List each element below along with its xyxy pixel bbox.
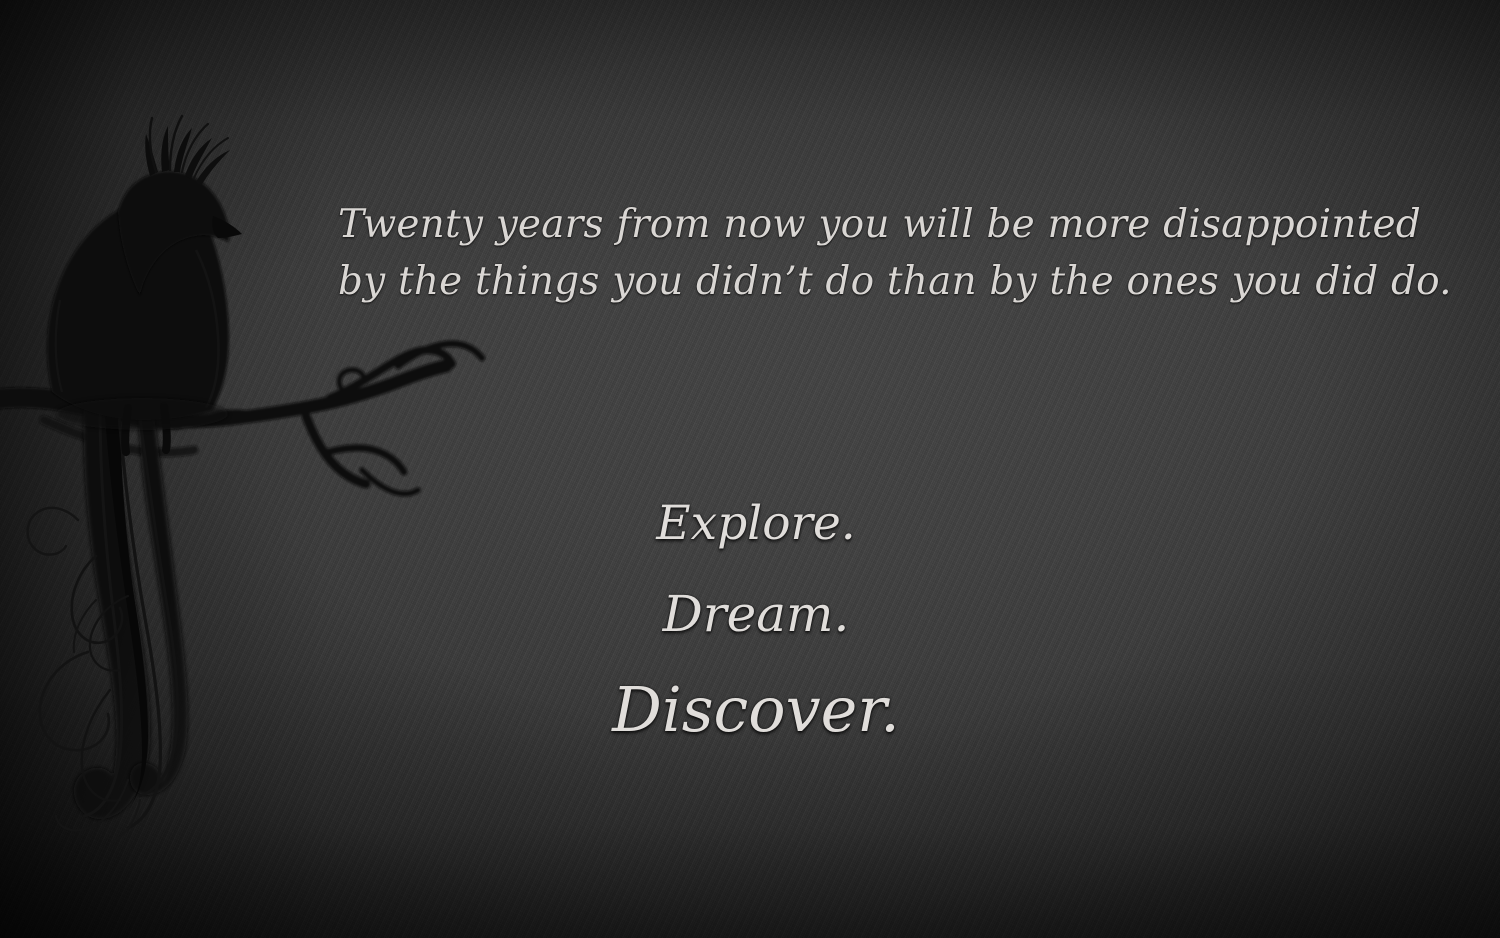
tagline-word-discover: Discover. bbox=[406, 679, 1106, 741]
quote-text: Twenty years from now you will be more d… bbox=[338, 196, 1298, 310]
tagline-word-dream: Dream. bbox=[406, 589, 1106, 639]
tagline-words: Explore. Dream. Discover. bbox=[406, 500, 1106, 741]
background-edge-shade-top bbox=[0, 0, 1500, 938]
wallpaper-canvas: Twenty years from now you will be more d… bbox=[0, 0, 1500, 938]
quote-line-2: by the things you didn’t do than by the … bbox=[338, 253, 1298, 310]
quote-line-1: Twenty years from now you will be more d… bbox=[338, 196, 1298, 253]
tagline-word-explore: Explore. bbox=[406, 500, 1106, 547]
